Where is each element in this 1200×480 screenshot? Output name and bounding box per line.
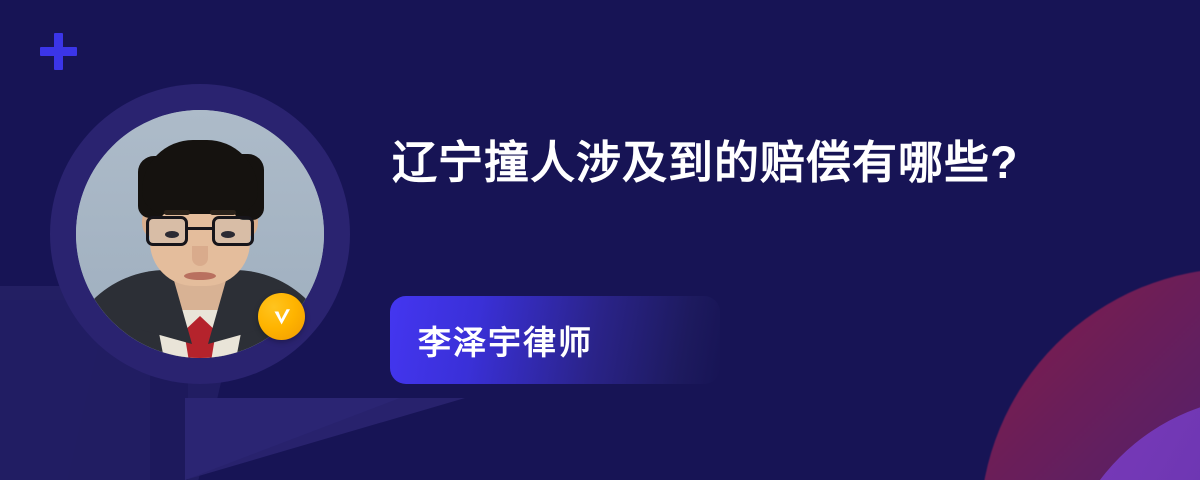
glasses-icon xyxy=(144,216,256,248)
plus-icon xyxy=(40,33,77,70)
portrait-brow-right xyxy=(210,210,236,215)
portrait-nose xyxy=(192,246,208,266)
portrait-mouth xyxy=(184,272,216,280)
portrait-brow-left xyxy=(164,210,190,215)
glasses-lens-right xyxy=(212,216,254,246)
portrait-eye-right xyxy=(221,231,235,238)
page-title: 辽宁撞人涉及到的赔偿有哪些? xyxy=(392,128,1072,198)
triangle-shape-secondary xyxy=(185,398,400,480)
verified-badge-icon xyxy=(258,293,305,340)
banner-content: 辽宁撞人涉及到的赔偿有哪些? 李泽宇律师 xyxy=(390,0,1090,480)
glasses-bridge xyxy=(188,227,212,230)
portrait-eye-left xyxy=(165,231,179,238)
glasses-lens-left xyxy=(146,216,188,246)
lawyer-name-button[interactable]: 李泽宇律师 xyxy=(390,296,720,384)
avatar xyxy=(50,84,350,384)
lawyer-qa-banner: 辽宁撞人涉及到的赔偿有哪些? 李泽宇律师 xyxy=(0,0,1200,480)
